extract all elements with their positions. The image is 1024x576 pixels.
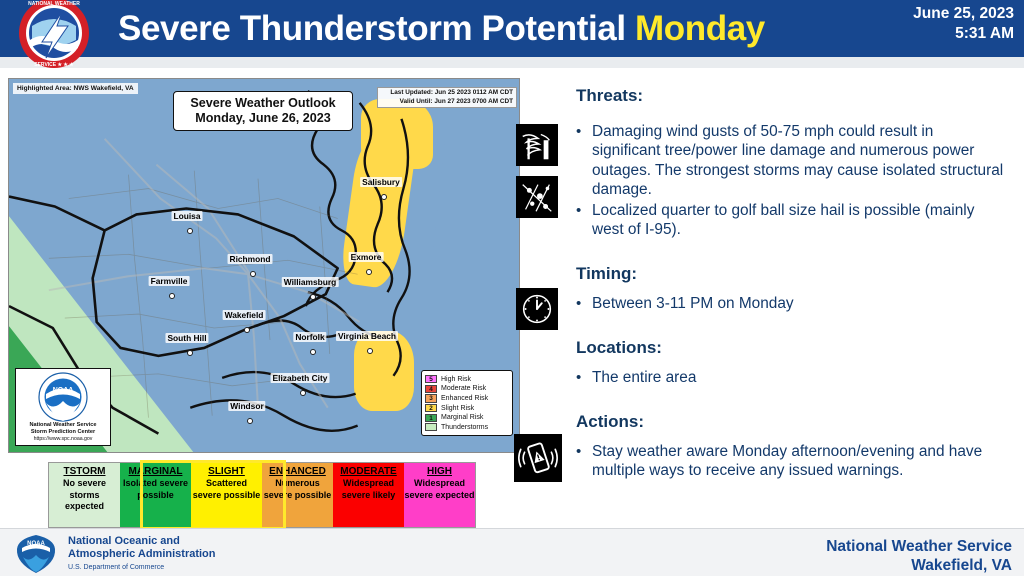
svg-text:NOAA: NOAA [27, 541, 45, 547]
city-label: Farmville [149, 276, 190, 286]
svg-text:NATIONAL WEATHER: NATIONAL WEATHER [28, 1, 80, 7]
legend-swatch: 4 [425, 385, 437, 393]
map-update-box: Last Updated: Jun 25 2023 0112 AM CDT Va… [377, 87, 517, 108]
city-label: Elizabeth City [271, 373, 330, 383]
city-marker-dot [250, 271, 256, 277]
legend-swatch [425, 423, 437, 431]
city-marker-dot [310, 349, 316, 355]
legend-row: 4Moderate Risk [425, 384, 509, 394]
legend-label: Slight Risk [441, 405, 474, 412]
bullet-item: •Stay weather aware Monday afternoon/eve… [576, 442, 1006, 481]
risk-column-title: HIGH [404, 466, 475, 477]
details-panel: Threats: •Damaging wind gusts of 50-75 m… [500, 78, 1024, 526]
nws-seal-icon: NATIONAL WEATHER SERVICE ★ ★ ★ [2, 0, 106, 70]
risk-column-desc: Numerous severe possible [264, 478, 332, 499]
severe-weather-outlook-map[interactable]: SalisburyLouisaRichmondExmoreFarmvilleWi… [8, 78, 520, 453]
clock-icon [516, 288, 558, 330]
city-marker-dot [310, 294, 316, 300]
header-strip [0, 57, 1024, 68]
city-label: Williamsburg [282, 277, 339, 287]
bullet-item: •Between 3-11 PM on Monday [576, 294, 1006, 313]
city-marker-dot [187, 228, 193, 234]
footer-office-line1: National Weather Service [826, 537, 1012, 556]
city-marker-dot [247, 418, 253, 424]
risk-column-desc: Scattered severe possible [193, 478, 261, 499]
risk-column-title: MODERATE [333, 466, 404, 477]
bullet-item: •Damaging wind gusts of 50-75 mph could … [576, 122, 1006, 200]
threats-heading: Threats: [576, 86, 643, 106]
footer-department: U.S. Department of Commerce [68, 563, 164, 572]
city-label: Exmore [349, 252, 384, 262]
actions-bullets: •Stay weather aware Monday afternoon/eve… [576, 442, 1006, 482]
bullet-item: •Localized quarter to golf ball size hai… [576, 201, 1006, 240]
legend-row: 5High Risk [425, 374, 509, 384]
timing-heading: Timing: [576, 264, 637, 284]
map-highlight-note: Highlighted Area: NWS Wakefield, VA [13, 83, 138, 94]
footer-agency: National Oceanic and Atmospheric Adminis… [68, 535, 216, 562]
map-title-line2: Monday, June 26, 2023 [180, 111, 346, 126]
page-title-main: Severe Thunderstorm Potential [118, 9, 626, 48]
legend-swatch: 3 [425, 394, 437, 402]
risk-column-desc: Widespread severe expected [404, 478, 474, 499]
city-label: Salisbury [360, 177, 402, 187]
city-label: South Hill [165, 333, 208, 343]
threats-bullets: •Damaging wind gusts of 50-75 mph could … [576, 122, 1006, 240]
bullet-marker: • [576, 122, 592, 200]
bullet-item: •The entire area [576, 368, 1006, 387]
bullet-text: Damaging wind gusts of 50-75 mph could r… [592, 122, 1006, 200]
risk-column-title: TSTORM [49, 466, 120, 477]
legend-row: 3Enhanced Risk [425, 394, 509, 404]
locations-bullets: •The entire area [576, 368, 1006, 388]
bullet-marker: • [576, 368, 592, 387]
city-marker-dot [300, 390, 306, 396]
risk-column-moderate[interactable]: MODERATEWidespread severe likely [333, 463, 404, 527]
svg-text:NOAA: NOAA [53, 387, 74, 394]
city-label: Louisa [172, 211, 203, 221]
risk-column-marginal[interactable]: MARGINALIsolated severe possible [120, 463, 191, 527]
city-marker-dot [367, 348, 373, 354]
footer-agency-line1: National Oceanic and [68, 535, 216, 548]
risk-column-high[interactable]: HIGHWidespread severe expected [404, 463, 475, 527]
risk-category-scale: TSTORMNo severe storms expectedMARGINALI… [48, 462, 476, 528]
phone-alert-icon [514, 434, 562, 482]
city-label: Windsor [228, 401, 265, 411]
legend-swatch: 1 [425, 414, 437, 422]
city-marker-dot [187, 350, 193, 356]
spc-seal-line1: National Weather Service [18, 422, 108, 429]
page-title: Severe Thunderstorm Potential Monday [118, 4, 858, 54]
legend-label: High Risk [441, 376, 471, 383]
noaa-logo-icon: NOAA [14, 533, 58, 575]
bullet-marker: • [576, 201, 592, 240]
bullet-marker: • [576, 294, 592, 313]
map-title-line1: Severe Weather Outlook [180, 96, 346, 111]
city-marker-dot [169, 293, 175, 299]
legend-row: Thunderstorms [425, 422, 509, 432]
legend-row: 2Slight Risk [425, 403, 509, 413]
risk-column-title: ENHANCED [262, 466, 333, 477]
damaging-wind-icon [516, 124, 558, 166]
svg-text:SERVICE ★ ★ ★: SERVICE ★ ★ ★ [34, 62, 74, 68]
spc-seal-url: https://www.spc.noaa.gov [18, 436, 108, 443]
risk-column-title: SLIGHT [191, 466, 262, 477]
bullet-text: Stay weather aware Monday afternoon/even… [592, 442, 1006, 481]
footer-office-line2: Wakefield, VA [826, 556, 1012, 575]
map-title-box: Severe Weather Outlook Monday, June 26, … [173, 91, 353, 131]
timing-bullets: •Between 3-11 PM on Monday [576, 294, 1006, 314]
city-label: Virginia Beach [336, 331, 398, 341]
spc-seal-line2: Storm Prediction Center [18, 429, 108, 436]
city-label: Norfolk [293, 332, 326, 342]
bullet-marker: • [576, 442, 592, 481]
weather-graphic: NATIONAL WEATHER SERVICE ★ ★ ★ Severe Th… [0, 0, 1024, 576]
actions-heading: Actions: [576, 412, 644, 432]
risk-column-desc: No severe storms expected [63, 478, 106, 511]
risk-column-enhanced[interactable]: ENHANCEDNumerous severe possible [262, 463, 333, 527]
footer-bar: NOAA National Oceanic and Atmospheric Ad… [0, 528, 1024, 576]
risk-column-slight[interactable]: SLIGHTScattered severe possible [191, 463, 262, 527]
header-datetime: June 25, 2023 5:31 AM [844, 4, 1014, 44]
city-marker-dot [381, 194, 387, 200]
map-last-updated: Last Updated: Jun 25 2023 0112 AM CDT [381, 89, 513, 98]
city-marker-dot [244, 327, 250, 333]
city-marker-dot [366, 269, 372, 275]
city-label: Richmond [228, 254, 273, 264]
page-title-highlight: Monday [635, 9, 765, 48]
risk-column-title: MARGINAL [120, 466, 191, 477]
footer-agency-line2: Atmospheric Administration [68, 548, 216, 561]
bullet-text: The entire area [592, 368, 1006, 387]
city-label: Wakefield [223, 310, 266, 320]
legend-label: Enhanced Risk [441, 395, 488, 402]
bullet-text: Between 3-11 PM on Monday [592, 294, 1006, 313]
legend-swatch: 5 [425, 375, 437, 383]
header-time: 5:31 AM [844, 24, 1014, 44]
noaa-seal-icon: NOAA [38, 372, 88, 422]
map-valid-until: Valid Until: Jun 27 2023 0700 AM CDT [381, 98, 513, 107]
legend-row: 1Marginal Risk [425, 413, 509, 423]
hail-icon [516, 176, 558, 218]
footer-office: National Weather Service Wakefield, VA [826, 537, 1012, 575]
bullet-text: Localized quarter to golf ball size hail… [592, 201, 1006, 240]
risk-column-desc: Widespread severe likely [342, 478, 396, 499]
header-date: June 25, 2023 [844, 4, 1014, 24]
legend-label: Moderate Risk [441, 385, 486, 392]
spc-seal-box: NOAA National Weather Service Storm Pred… [15, 368, 111, 446]
risk-column-desc: Isolated severe possible [123, 478, 188, 499]
legend-label: Thunderstorms [441, 424, 488, 431]
locations-heading: Locations: [576, 338, 662, 358]
risk-column-tstorm[interactable]: TSTORMNo severe storms expected [49, 463, 120, 527]
legend-swatch: 2 [425, 404, 437, 412]
legend-label: Marginal Risk [441, 414, 483, 421]
